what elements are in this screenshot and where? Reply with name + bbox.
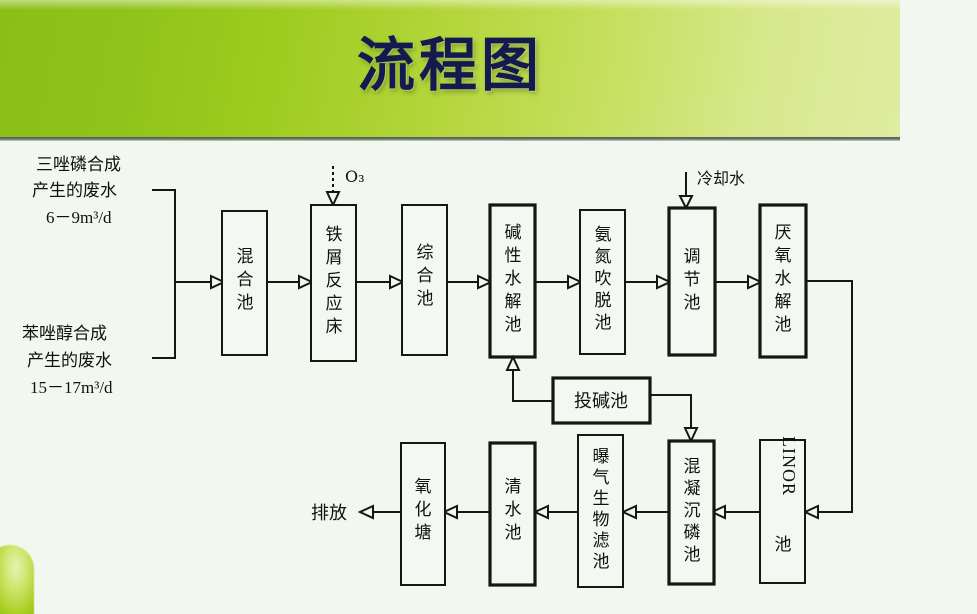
connector-integrated-to-alkaline bbox=[447, 276, 491, 288]
node-clear-water-tank-char-0: 清 bbox=[505, 477, 522, 497]
node-anaerobic-hydrolysis-char-4: 池 bbox=[775, 315, 792, 335]
input-bottom-line3: 15－17m³/d bbox=[30, 378, 113, 397]
node-coag-phos-tank-char-0: 混 bbox=[684, 457, 701, 477]
node-anaerobic-hydrolysis[interactable]: 厌 氧 水 解 池 bbox=[760, 205, 806, 357]
node-iron-scrap-bed-char-3: 应 bbox=[326, 294, 343, 314]
node-ammonia-stripping-char-2: 吹 bbox=[595, 269, 612, 289]
node-coag-phos-tank-char-4: 池 bbox=[684, 545, 701, 565]
ozone-label: O₃ bbox=[345, 167, 365, 186]
connector-iron-to-integrated bbox=[356, 276, 403, 288]
node-oxidation-pond-char-1: 化 bbox=[415, 500, 432, 520]
node-anaerobic-hydrolysis-char-3: 解 bbox=[775, 292, 792, 312]
node-coag-phos-tank[interactable]: 混 凝 沉 磷 池 bbox=[669, 441, 714, 584]
connector-biofilter-to-clearwater bbox=[535, 506, 578, 518]
node-anaerobic-hydrolysis-char-0: 厌 bbox=[775, 223, 792, 243]
node-linor-tank[interactable]: LINOR 池 bbox=[760, 436, 805, 583]
node-alkaline-hydrolysis-char-0: 碱 bbox=[505, 223, 522, 243]
connector-mixing-to-iron bbox=[267, 276, 312, 288]
cooling-water-annotation: 冷却水 bbox=[680, 169, 745, 208]
node-clear-water-tank[interactable]: 清 水 池 bbox=[490, 443, 535, 585]
input-top-line1: 三唑磷合成 bbox=[36, 155, 121, 175]
node-oxidation-pond-char-2: 塘 bbox=[415, 523, 432, 543]
node-bio-aerated-filter[interactable]: 曝 气 生 物 滤 池 bbox=[578, 435, 623, 587]
node-oxidation-pond-char-0: 氧 bbox=[415, 477, 432, 497]
slide-canvas: 流程图 三唑磷合成 产生的废水 6－9m³/d 苯唑醇合成 产生的废水 15－1… bbox=[0, 0, 977, 614]
node-integrated-tank-char-2: 池 bbox=[417, 289, 434, 309]
node-iron-scrap-bed-char-1: 屑 bbox=[326, 248, 343, 268]
node-alkaline-hydrolysis-char-4: 池 bbox=[505, 315, 522, 335]
node-mixing-tank-char-0: 混 bbox=[237, 247, 254, 267]
node-ammonia-stripping-char-1: 氮 bbox=[595, 247, 612, 267]
process-flow-diagram: 三唑磷合成 产生的废水 6－9m³/d 苯唑醇合成 产生的废水 15－17m³/… bbox=[0, 0, 977, 614]
cooling-water-label: 冷却水 bbox=[697, 169, 745, 188]
node-regulating-tank-char-1: 节 bbox=[684, 270, 701, 290]
node-bio-aerated-filter-char-1: 气 bbox=[593, 468, 610, 488]
node-iron-scrap-bed[interactable]: 铁 屑 反 应 床 bbox=[311, 205, 356, 361]
node-ammonia-stripping[interactable]: 氨 氮 吹 脱 池 bbox=[580, 210, 625, 354]
node-integrated-tank-char-1: 合 bbox=[417, 266, 434, 286]
node-regulating-tank-char-0: 调 bbox=[684, 247, 701, 267]
node-bio-aerated-filter-char-2: 生 bbox=[593, 489, 610, 509]
node-bio-aerated-filter-char-5: 池 bbox=[593, 552, 610, 572]
node-linor-tank-char-0: 池 bbox=[775, 535, 792, 555]
node-coag-phos-tank-char-3: 磷 bbox=[684, 523, 701, 543]
connector-oxidation-to-discharge bbox=[360, 506, 401, 518]
node-alkaline-hydrolysis-char-2: 水 bbox=[505, 269, 522, 289]
node-oxidation-pond[interactable]: 氧 化 塘 bbox=[401, 443, 445, 585]
node-alkaline-hydrolysis-char-1: 性 bbox=[505, 246, 522, 266]
input-bottom-line2: 产生的废水 bbox=[27, 351, 112, 371]
node-ammonia-stripping-char-3: 脱 bbox=[595, 291, 612, 311]
node-mixing-tank-char-2: 池 bbox=[237, 293, 254, 313]
node-anaerobic-hydrolysis-char-2: 水 bbox=[775, 269, 792, 289]
input-top-line2: 产生的废水 bbox=[32, 181, 117, 201]
node-bio-aerated-filter-char-3: 物 bbox=[593, 510, 610, 530]
node-mixing-tank-char-1: 合 bbox=[237, 270, 254, 290]
node-ammonia-stripping-char-0: 氨 bbox=[595, 225, 612, 245]
connector-dosing-to-alkaline bbox=[507, 357, 553, 401]
connector-linor-to-coagulation bbox=[712, 506, 760, 518]
node-alkali-dosing-tank[interactable]: 投碱池 bbox=[553, 378, 650, 423]
node-alkaline-hydrolysis[interactable]: 碱 性 水 解 池 bbox=[490, 205, 535, 357]
node-alkaline-hydrolysis-char-3: 解 bbox=[505, 292, 522, 312]
ozone-input-annotation: O₃ bbox=[327, 166, 365, 205]
node-regulating-tank-char-2: 池 bbox=[684, 293, 701, 313]
node-ammonia-stripping-char-4: 池 bbox=[595, 313, 612, 333]
node-linor-tank-latin: LINOR bbox=[779, 436, 799, 496]
node-clear-water-tank-char-2: 池 bbox=[505, 523, 522, 543]
node-anaerobic-hydrolysis-char-1: 氧 bbox=[775, 246, 792, 266]
connector-regulating-to-anaerobic bbox=[715, 276, 761, 288]
node-clear-water-tank-char-1: 水 bbox=[505, 500, 522, 520]
connector-alkaline-to-ammonia bbox=[535, 276, 581, 288]
input-top-line3: 6－9m³/d bbox=[46, 208, 112, 227]
connector-dosing-to-coagulation bbox=[650, 395, 697, 441]
node-iron-scrap-bed-char-0: 铁 bbox=[326, 225, 343, 245]
input-bottom-label: 苯唑醇合成 产生的废水 15－17m³/d bbox=[22, 324, 113, 397]
input-top-label: 三唑磷合成 产生的废水 6－9m³/d bbox=[32, 155, 121, 227]
node-integrated-tank-char-0: 综 bbox=[417, 243, 434, 263]
connector-clearwater-to-oxidation bbox=[444, 506, 490, 518]
node-bio-aerated-filter-char-0: 曝 bbox=[593, 447, 610, 467]
connector-ammonia-to-regulating bbox=[625, 276, 670, 288]
node-iron-scrap-bed-char-4: 床 bbox=[326, 317, 343, 337]
node-coag-phos-tank-char-2: 沉 bbox=[684, 501, 701, 521]
node-coag-phos-tank-char-1: 凝 bbox=[684, 479, 701, 499]
node-regulating-tank[interactable]: 调 节 池 bbox=[669, 208, 715, 355]
node-integrated-tank[interactable]: 综 合 池 bbox=[402, 205, 447, 355]
node-alkali-dosing-tank-label: 投碱池 bbox=[574, 391, 628, 412]
connector-anaerobic-to-linor bbox=[805, 281, 852, 518]
node-iron-scrap-bed-char-2: 反 bbox=[326, 271, 343, 291]
input-manifold-connector bbox=[152, 190, 224, 358]
connector-coagulation-to-biofilter bbox=[623, 506, 669, 518]
output-discharge-label: 排放 bbox=[311, 503, 347, 524]
input-bottom-line1: 苯唑醇合成 bbox=[22, 324, 107, 344]
node-bio-aerated-filter-char-4: 滤 bbox=[593, 531, 610, 551]
node-mixing-tank[interactable]: 混 合 池 bbox=[222, 211, 267, 355]
